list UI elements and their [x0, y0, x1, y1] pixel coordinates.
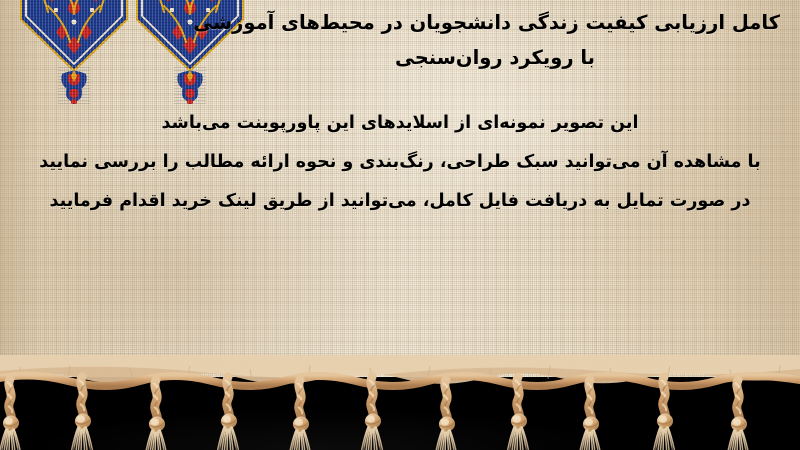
slide-text-layer: کامل ارزیابی کیفیت زندگی دانشجویان در مح…	[0, 0, 800, 382]
slide-body-text: این تصویر نمونه‌ای از اسلایدهای این پاور…	[0, 104, 800, 221]
slide-body-line-1: این تصویر نمونه‌ای از اسلایدهای این پاور…	[0, 104, 800, 143]
carpet-fringe	[0, 355, 800, 450]
slide-body-line-2: با مشاهده آن می‌توانید سبک طراحی، رنگ‌بن…	[0, 143, 800, 182]
slide-title: کامل ارزیابی کیفیت زندگی دانشجویان در مح…	[210, 5, 780, 75]
slide-title-line-1: کامل ارزیابی کیفیت زندگی دانشجویان در مح…	[210, 5, 780, 40]
slide-title-line-2: با رویکرد روان‌سنجی	[210, 40, 780, 75]
slide-canvas: کامل ارزیابی کیفیت زندگی دانشجویان در مح…	[0, 0, 800, 450]
slide-body-line-3: در صورت تمایل به دریافت فایل کامل، می‌تو…	[0, 182, 800, 221]
